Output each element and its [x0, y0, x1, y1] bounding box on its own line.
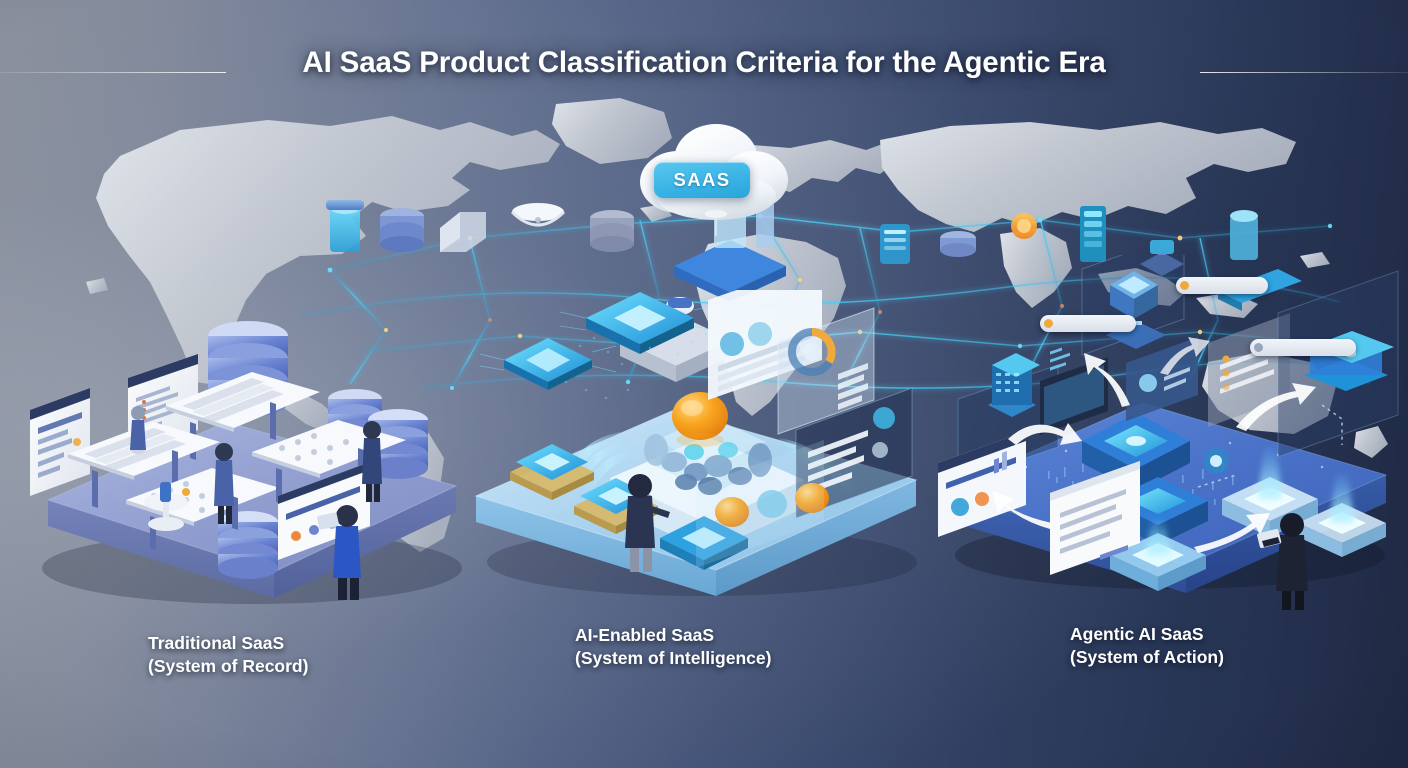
pill-label [1267, 344, 1269, 351]
pill-status-dot [1044, 319, 1053, 328]
platform-caption-traditional: Traditional SaaS (System of Record) [148, 632, 308, 679]
saas-cloud-group: SAAS [616, 110, 816, 238]
pill-status-dot [1254, 343, 1263, 352]
pill-status-dot [1180, 281, 1189, 290]
notification-pill-2[interactable] [1040, 315, 1136, 332]
infographic-canvas: AI SaaS Product Classification Criteria … [0, 0, 1408, 768]
platform-caption-ai-enabled: AI-Enabled SaaS (System of Intelligence) [575, 624, 771, 671]
form-window-panel [30, 388, 90, 496]
platform-agentic-ai-saas[interactable]: Agentic AI SaaS (System of Action) [930, 255, 1408, 610]
pill-label [1057, 320, 1059, 327]
page-title: AI SaaS Product Classification Criteria … [0, 46, 1408, 80]
target-node [1203, 448, 1229, 474]
shield-glass-card [1278, 271, 1398, 457]
ai-chip-back-2 [560, 292, 720, 354]
notification-pill-1[interactable] [1176, 277, 1268, 294]
notification-pill-3[interactable] [1250, 339, 1356, 356]
platform-traditional-saas[interactable]: Traditional SaaS (System of Record) [20, 310, 490, 610]
ai-chip-back-1 [480, 338, 616, 390]
cube-glass-card [1082, 255, 1184, 355]
saas-badge: SAAS [654, 162, 750, 198]
pill-label [1193, 282, 1195, 289]
platform-ai-enabled-saas[interactable]: AI-Enabled SaaS (System of Intelligence) [460, 290, 940, 610]
platform-caption-agentic: Agentic AI SaaS (System of Action) [1070, 623, 1224, 670]
person-figure [130, 406, 146, 454]
